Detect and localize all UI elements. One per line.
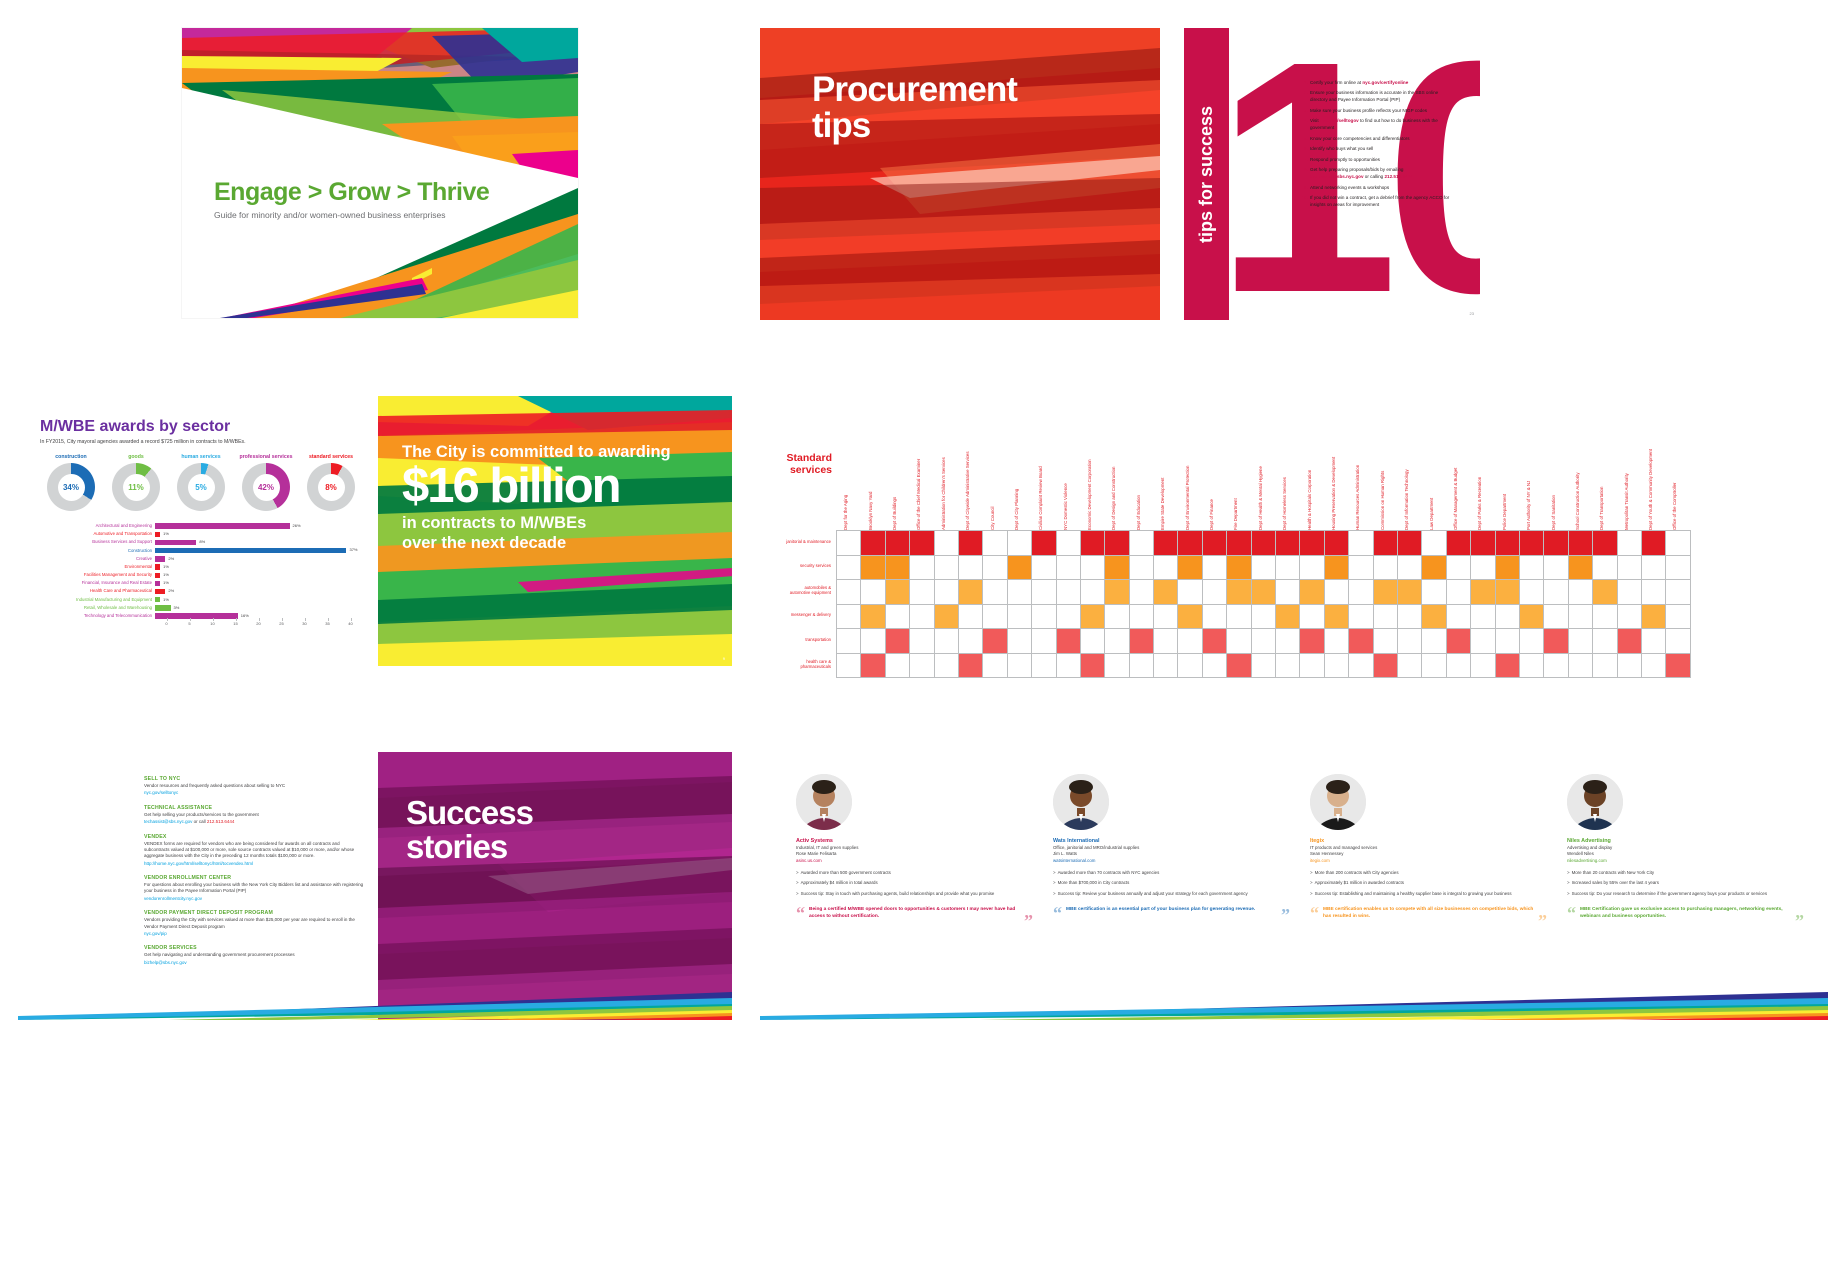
matrix-cell (1642, 629, 1666, 654)
bar-track: 3% (155, 605, 362, 610)
quote-close-icon: ” (1281, 906, 1290, 924)
matrix-cell (1032, 654, 1056, 679)
matrix-row (837, 629, 1691, 654)
resource-body: Vendor resources and frequently asked qu… (144, 783, 364, 789)
matrix-cell (1593, 629, 1617, 654)
story-company-name: Activ Systems (796, 838, 1033, 844)
donut-chart-group: construction34%goods11%human services5%p… (40, 454, 362, 511)
matrix-column-header: Health & Hospitals Corporation (1299, 432, 1323, 530)
matrix-cell (1569, 580, 1593, 605)
tip-link[interactable]: techassist@sbs.nyc.gov (1310, 174, 1364, 179)
donut-value: 42% (253, 474, 280, 501)
matrix-cell (1544, 629, 1568, 654)
matrix-cell (1081, 531, 1105, 556)
matrix-column-header: Dept of Education (1129, 432, 1153, 530)
bar-row: Facilities Management and Security1% (40, 571, 362, 579)
matrix-column-header: Dept of Health & Mental Hygiene (1251, 432, 1275, 530)
tip-item: 9.Attend networking events & workshops (1300, 185, 1450, 192)
matrix-cell (1227, 654, 1251, 679)
story-bullets: >Awarded more than 500 government contra… (796, 870, 1033, 897)
commitment-line3a: in contracts to M/WBEs (402, 513, 671, 534)
matrix-cell (1008, 654, 1032, 679)
matrix-cell (959, 556, 983, 581)
matrix-column-headers: Dept for the AgingBrooklyn Navy YardDept… (836, 432, 1691, 530)
resource-phone[interactable]: 212.513.6444 (207, 819, 235, 824)
matrix-cell (1447, 629, 1471, 654)
matrix-cell (1032, 531, 1056, 556)
matrix-row (837, 580, 1691, 605)
matrix-cell (935, 654, 959, 679)
bar-value: 16% (241, 613, 249, 618)
story-quote-text: MBE Certification gave us exclusive acce… (1580, 907, 1783, 919)
matrix-cell (1081, 580, 1105, 605)
matrix-cell (1618, 531, 1642, 556)
resource-heading: VENDOR SERVICES (144, 945, 364, 951)
tip-number: 9. (1300, 185, 1308, 192)
chevron-right-icon: > (1053, 880, 1056, 886)
matrix-cell (1178, 531, 1202, 556)
matrix-cell (1130, 531, 1154, 556)
matrix-column-header: Commission on Human Rights (1373, 432, 1397, 530)
bar-row: Retail, Wholesale and Warehousing3% (40, 604, 362, 612)
story-bullet-text: More than $700,000 in City contracts (1058, 880, 1130, 886)
matrix-column-header: Dept of Parks & Recreation (1470, 432, 1494, 530)
story-quote-text: MBE certification enables us to compete … (1323, 907, 1533, 919)
resource-body: Get help navigating and understanding go… (144, 952, 364, 958)
bar-label: Facilities Management and Security (40, 573, 155, 577)
matrix-cell (910, 629, 934, 654)
resource-link[interactable]: vendorenrollmentcity.nyc.gov (144, 896, 202, 901)
matrix-cell (935, 629, 959, 654)
matrix-row (837, 531, 1691, 556)
story-bullet-text: Awarded more than 70 contracts with NYC … (1058, 870, 1160, 876)
bar-track: 1% (155, 597, 362, 602)
matrix-column-header: Civilian Complaint Review Board (1031, 432, 1055, 530)
tip-link[interactable]: nyc.gov/certifyonline (1362, 80, 1408, 85)
story-quote-text: Being a certified M/WBE opened doors to … (809, 907, 1015, 919)
matrix-cell (1300, 556, 1324, 581)
tip-number: 8. (1300, 167, 1308, 181)
matrix-cell (1178, 629, 1202, 654)
awards-page-number: 9 (723, 656, 725, 661)
resource-link-line: http://home.nyc.gov/html/selltonyc/html/… (144, 861, 364, 867)
matrix-cell (1154, 556, 1178, 581)
matrix-column-header: Law Department (1421, 432, 1445, 530)
matrix-cell (1081, 605, 1105, 630)
matrix-cell (935, 580, 959, 605)
matrix-column-label: School Construction Authority (1575, 472, 1580, 530)
tip-number: 4. (1300, 118, 1308, 132)
matrix-cell (910, 531, 934, 556)
matrix-cell (1593, 605, 1617, 630)
story-website[interactable]: asinc.us.com (796, 858, 1033, 863)
resource-link[interactable]: nyc.gov/pip (144, 931, 167, 936)
tip-number: 6. (1300, 146, 1308, 153)
matrix-cell (983, 629, 1007, 654)
matrix-cell (1227, 605, 1251, 630)
resource-link[interactable]: nyc.gov/selltonyc (144, 790, 178, 795)
story-bullets: >Awarded more than 70 contracts with NYC… (1053, 870, 1290, 897)
donut-chart: professional services42% (235, 454, 297, 511)
bar-label: Environmental (40, 565, 155, 569)
matrix-cell (1520, 556, 1544, 581)
matrix-cell (1447, 605, 1471, 630)
matrix-cell (1471, 556, 1495, 581)
resource-body: VENDEX forms are required for vendors wh… (144, 841, 364, 860)
success-title-line1: Success (406, 796, 533, 830)
matrix-cell (983, 531, 1007, 556)
tip-text: If you did not win a contract, get a deb… (1310, 195, 1450, 209)
tip-number: 3. (1300, 108, 1308, 115)
tips-list: 1.Certify your firm online at nyc.gov/ce… (1300, 80, 1450, 212)
matrix-cell (1325, 531, 1349, 556)
matrix-cell (861, 605, 885, 630)
resource-link-line: bizhelp@sbs.nyc.gov (144, 960, 364, 966)
matrix-cell (1374, 580, 1398, 605)
resource-block: VENDOR ENROLLMENT CENTERFor questions ab… (144, 875, 364, 902)
matrix-column-header: Administration for Children's Services (934, 432, 958, 530)
matrix-cell (1105, 531, 1129, 556)
matrix-column-label: Dept of Information Technology (1404, 469, 1409, 530)
matrix-cell (1057, 531, 1081, 556)
donut-chart: standard services8% (300, 454, 362, 511)
tips-page-number: 23 (1470, 311, 1474, 316)
cover-slide[interactable]: Engage > Grow > Thrive Guide for minorit… (182, 28, 578, 318)
matrix-column-label: Dept of Environmental Protection (1185, 466, 1190, 530)
matrix-cell (837, 654, 861, 679)
tip-text: Identify who buys what you sell (1310, 146, 1373, 153)
donut-value: 34% (58, 474, 85, 501)
axis-tick: 35 (316, 621, 339, 630)
matrix-cell (1105, 629, 1129, 654)
matrix-cell (1398, 629, 1422, 654)
matrix-cell (1544, 556, 1568, 581)
chevron-right-icon: > (1567, 880, 1570, 886)
resources-slide[interactable]: SELL TO NYCVendor resources and frequent… (18, 752, 732, 1020)
matrix-column-label: City Council (990, 507, 995, 530)
quote-close-icon: ” (1024, 912, 1033, 930)
matrix-cell (959, 580, 983, 605)
matrix-cell (1252, 605, 1276, 630)
story-bullet: >Approximately $1 million in awarded con… (1310, 880, 1547, 886)
tip-number: 5. (1300, 136, 1308, 143)
matrix-cell (1618, 605, 1642, 630)
tip-item: 5.Know your core competencies and differ… (1300, 136, 1450, 143)
matrix-row-label: health care & pharmaceuticals (786, 653, 834, 678)
bar-fill (155, 581, 160, 586)
matrix-cell (1349, 531, 1373, 556)
matrix-cell (1447, 580, 1471, 605)
matrix-cell (1008, 556, 1032, 581)
matrix-column-label: Civilian Complaint Review Board (1038, 466, 1043, 530)
resource-link[interactable]: bizhelp@sbs.nyc.gov (144, 960, 187, 965)
matrix-cell (1178, 654, 1202, 679)
matrix-cell (1300, 654, 1324, 679)
chevron-right-icon: > (1053, 870, 1056, 876)
matrix-column-header: Dept of Youth & Community Development (1641, 432, 1665, 530)
quote-open-icon: “ (1567, 904, 1576, 922)
resource-block: VENDOR SERVICESGet help navigating and u… (144, 945, 364, 966)
donut-value: 5% (188, 474, 215, 501)
matrix-cell (1227, 531, 1251, 556)
bar-track: 1% (155, 581, 362, 586)
resource-heading: SELL TO NYC (144, 776, 364, 782)
story-bullet-text: Increased sales by 55% over the last 4 y… (1572, 880, 1659, 886)
matrix-cell (1642, 531, 1666, 556)
matrix-cell (1252, 580, 1276, 605)
chevron-right-icon: > (796, 891, 799, 897)
matrix-cell (1081, 629, 1105, 654)
bar-fill (155, 548, 346, 553)
matrix-column-label: Economic Development Corporation (1087, 459, 1092, 530)
matrix-column-label: Empire State Development (1160, 478, 1165, 530)
matrix-cell (910, 556, 934, 581)
bar-fill (155, 523, 290, 528)
awards-title: M/WBE awards by sector (40, 418, 362, 436)
matrix-cell (886, 629, 910, 654)
bar-track: 1% (155, 532, 362, 537)
matrix-cell (959, 531, 983, 556)
resource-link[interactable]: techassist@sbs.nyc.gov (144, 819, 192, 824)
story-website[interactable]: nilesadvertising.com (1567, 858, 1804, 863)
matrix-cell (1422, 580, 1446, 605)
matrix-column-label: Dept of Transportation (1599, 487, 1604, 530)
chevron-right-icon: > (1310, 880, 1313, 886)
avatar (1053, 774, 1109, 830)
matrix-column-label: Dept of City Planning (1014, 489, 1019, 530)
matrix-row-label: janitorial & maintenance (786, 530, 834, 555)
matrix-column-header: Dept of Environmental Protection (1177, 432, 1201, 530)
matrix-cell (861, 629, 885, 654)
matrix-cell (1666, 531, 1690, 556)
matrix-cell (1057, 556, 1081, 581)
matrix-cell (1252, 629, 1276, 654)
matrix-cell (1325, 629, 1349, 654)
matrix-cell (1057, 605, 1081, 630)
matrix-cell (1398, 654, 1422, 679)
matrix-column-header: Office of Management & Budget (1446, 432, 1470, 530)
matrix-column-label: Dept of Education (1136, 495, 1141, 530)
matrix-body (836, 530, 1691, 678)
matrix-column-header: School Construction Authority (1568, 432, 1592, 530)
matrix-cell (1203, 580, 1227, 605)
matrix-cell (1130, 629, 1154, 654)
story-bullet: >More than 200 contracts with City agenc… (1310, 870, 1547, 876)
matrix-column-header: Dept of Sanitation (1543, 432, 1567, 530)
matrix-column-header: Fire Department (1226, 432, 1250, 530)
matrix-cell (1593, 531, 1617, 556)
stories-grid: Activ SystemsIndustrial, IT and green su… (796, 774, 1804, 920)
resources-left-page: SELL TO NYCVendor resources and frequent… (18, 752, 378, 1020)
story-bullet-text: Success tip: Stay in touch with purchasi… (801, 891, 995, 897)
matrix-column-header: NYC Domestic Violence (1056, 432, 1080, 530)
story-bullet-text: Success tip: Review your business annual… (1058, 891, 1248, 897)
matrix-cell (1154, 580, 1178, 605)
matrix-column-label: NYC Domestic Violence (1063, 483, 1068, 530)
bar-row: Business Services and Support8% (40, 538, 362, 546)
tip-link[interactable]: nyc.gov/selltogov (1320, 118, 1359, 123)
matrix-cell (1349, 556, 1373, 581)
matrix-cell (1008, 580, 1032, 605)
story-bullet: >Increased sales by 55% over the last 4 … (1567, 880, 1804, 886)
matrix-cell (1032, 605, 1056, 630)
story-bullet: >Success tip: Review your business annua… (1053, 891, 1290, 897)
matrix-cell (1008, 629, 1032, 654)
chevron-right-icon: > (1053, 891, 1056, 897)
cover-title-thrive: Thrive (417, 178, 489, 206)
success-stories-detail-slide[interactable]: Activ SystemsIndustrial, IT and green su… (760, 752, 1828, 1020)
matrix-column-label: Brooklyn Navy Yard (868, 492, 873, 530)
matrix-column-header: Dept of Buildings (885, 432, 909, 530)
matrix-cell (1374, 654, 1398, 679)
tip-number: 10. (1300, 195, 1308, 209)
matrix-cell (1520, 654, 1544, 679)
matrix-cell (1032, 629, 1056, 654)
matrix-cell (910, 580, 934, 605)
tips-heading: Procurement tips (812, 72, 1017, 143)
tip-item: 3.Make sure your business profile reflec… (1300, 108, 1450, 115)
donut-ring: 5% (177, 463, 225, 511)
matrix-cell (1422, 629, 1446, 654)
matrix-cell (1057, 654, 1081, 679)
story-bullet-text: Approximately $4 million in total awards (801, 880, 878, 886)
story-quote: “MBE Certification gave us exclusive acc… (1567, 907, 1804, 920)
matrix-cell (983, 605, 1007, 630)
matrix-column-label: Dept of Parks & Recreation (1477, 477, 1482, 530)
matrix-cell (1130, 654, 1154, 679)
matrix-wrap: Dept for the AgingBrooklyn Navy YardDept… (836, 432, 1691, 678)
matrix-cell (1130, 556, 1154, 581)
matrix-cell (1276, 629, 1300, 654)
matrix-column-header: Police Department (1495, 432, 1519, 530)
matrix-cell (1593, 654, 1617, 679)
tips-vertical-label: tips for success (1196, 105, 1217, 242)
matrix-cell (935, 531, 959, 556)
matrix-cell (935, 556, 959, 581)
bar-fill (155, 589, 165, 594)
matrix-cell (1496, 580, 1520, 605)
story-bullet: >Awarded more than 70 contracts with NYC… (1053, 870, 1290, 876)
matrix-cell (1422, 605, 1446, 630)
cover-title-gt1: > (308, 178, 322, 206)
matrix-column-label: Metropolitan Transit Authority (1624, 473, 1629, 530)
bar-track: 2% (155, 556, 362, 561)
matrix-column-header: Port Authority of NY & NJ (1519, 432, 1543, 530)
matrix-cell (1276, 580, 1300, 605)
bar-fill (155, 573, 160, 578)
resource-link[interactable]: http://home.nyc.gov/html/selltonyc/html/… (144, 861, 253, 866)
matrix-column-label: Health & Hospitals Corporation (1307, 470, 1312, 530)
matrix-column-header: Human Resources Administration (1348, 432, 1372, 530)
donut-label: goods (105, 454, 167, 460)
tip-phone[interactable]: 212.513.6444 (1384, 174, 1412, 179)
matrix-cell (1398, 580, 1422, 605)
matrix-cell (935, 605, 959, 630)
awards-right-page: The City is committed to awarding $16 bi… (378, 396, 732, 666)
axis-tick: 5 (178, 621, 201, 630)
matrix-cell (1300, 580, 1324, 605)
matrix-column-header: Office of the Comptroller (1665, 432, 1689, 530)
matrix-cell (1300, 629, 1324, 654)
matrix-cell (886, 556, 910, 581)
awards-slide[interactable]: M/WBE awards by sector In FY2015, City m… (18, 396, 732, 666)
matrix-cell (1422, 531, 1446, 556)
matrix-cell (1496, 654, 1520, 679)
story-card: Niles AdvertisingAdvertising and display… (1567, 774, 1804, 920)
matrix-column-header: Dept of Homeless Services (1275, 432, 1299, 530)
matrix-cell (1154, 605, 1178, 630)
matrix-cell (1032, 580, 1056, 605)
resource-link-line: techassist@sbs.nyc.gov or call 212.513.6… (144, 819, 364, 825)
matrix-cell (1496, 605, 1520, 630)
matrix-cell (1618, 654, 1642, 679)
matrix-column-label: Port Authority of NY & NJ (1526, 481, 1531, 530)
stories-bottom-swoosh (760, 986, 1828, 1020)
matrix-row (837, 605, 1691, 630)
matrix-cell (1105, 654, 1129, 679)
matrix-cell (1203, 556, 1227, 581)
matrix-column-header: Dept of City Planning (1007, 432, 1031, 530)
matrix-row-label: security services (786, 555, 834, 580)
donut-chart: construction34% (40, 454, 102, 511)
axis-tick: 20 (247, 621, 270, 630)
matrix-cell (1666, 580, 1690, 605)
resource-block: VENDEXVENDEX forms are required for vend… (144, 834, 364, 868)
story-website[interactable]: watsinternational.com (1053, 858, 1290, 863)
story-website[interactable]: itegix.com (1310, 858, 1547, 863)
matrix-column-header: Dept for the Aging (836, 432, 860, 530)
tip-item: 10.If you did not win a contract, get a … (1300, 195, 1450, 209)
slide-thumbnail-grid: Engage > Grow > Thrive Guide for minorit… (0, 0, 1846, 1280)
story-quote-text: MBE certification is an essential part o… (1066, 907, 1255, 912)
matrix-cell (1154, 629, 1178, 654)
bar-fill (155, 564, 160, 569)
cover-title-block: Engage > Grow > Thrive Guide for minorit… (214, 178, 489, 220)
matrix-column-label: Dept of Citywide Administrative Services (965, 451, 970, 530)
matrix-column-label: Human Resources Administration (1355, 465, 1360, 530)
story-bullets: >More than 20 contracts with New York Ci… (1567, 870, 1804, 897)
procurement-tips-slide[interactable]: Procurement tips tips for success 10 1.C… (760, 28, 1480, 320)
matrix-column-label: Dept of Design and Construction (1111, 467, 1116, 530)
tip-text: Respond promptly to opportunities (1310, 157, 1380, 164)
cover-title: Engage > Grow > Thrive (214, 178, 489, 207)
matrix-column-label: Dept for the Aging (843, 495, 848, 530)
bar-fill (155, 556, 165, 561)
matrix-cell (1252, 556, 1276, 581)
matrix-cell (886, 580, 910, 605)
tips-white-gutter (1160, 28, 1184, 320)
donut-label: construction (40, 454, 102, 460)
matrix-cell (1325, 580, 1349, 605)
matrix-column-label: Dept of Homeless Services (1282, 477, 1287, 530)
bar-fill (155, 605, 171, 610)
story-bullet-text: Approximately $1 million in awarded cont… (1315, 880, 1404, 886)
story-bullet-text: Success tip: Do your research to determi… (1572, 891, 1767, 897)
bar-label: Health Care and Pharmaceutical (40, 589, 155, 593)
resource-heading: VENDEX (144, 834, 364, 840)
matrix-cell (1642, 654, 1666, 679)
matrix-column-header: Dept of Design and Construction (1104, 432, 1128, 530)
axis-tick: 25 (270, 621, 293, 630)
sector-bar-chart: Architectural and Engineering26%Automoti… (40, 522, 362, 620)
matrix-cell (1496, 531, 1520, 556)
resource-body: For questions about enrolling your busin… (144, 882, 364, 895)
tip-text: Know your core competencies and differen… (1310, 136, 1410, 143)
bar-value: 1% (163, 564, 169, 569)
matrix-cell (1544, 654, 1568, 679)
bar-value: 1% (163, 531, 169, 536)
matrix-cell (1349, 580, 1373, 605)
